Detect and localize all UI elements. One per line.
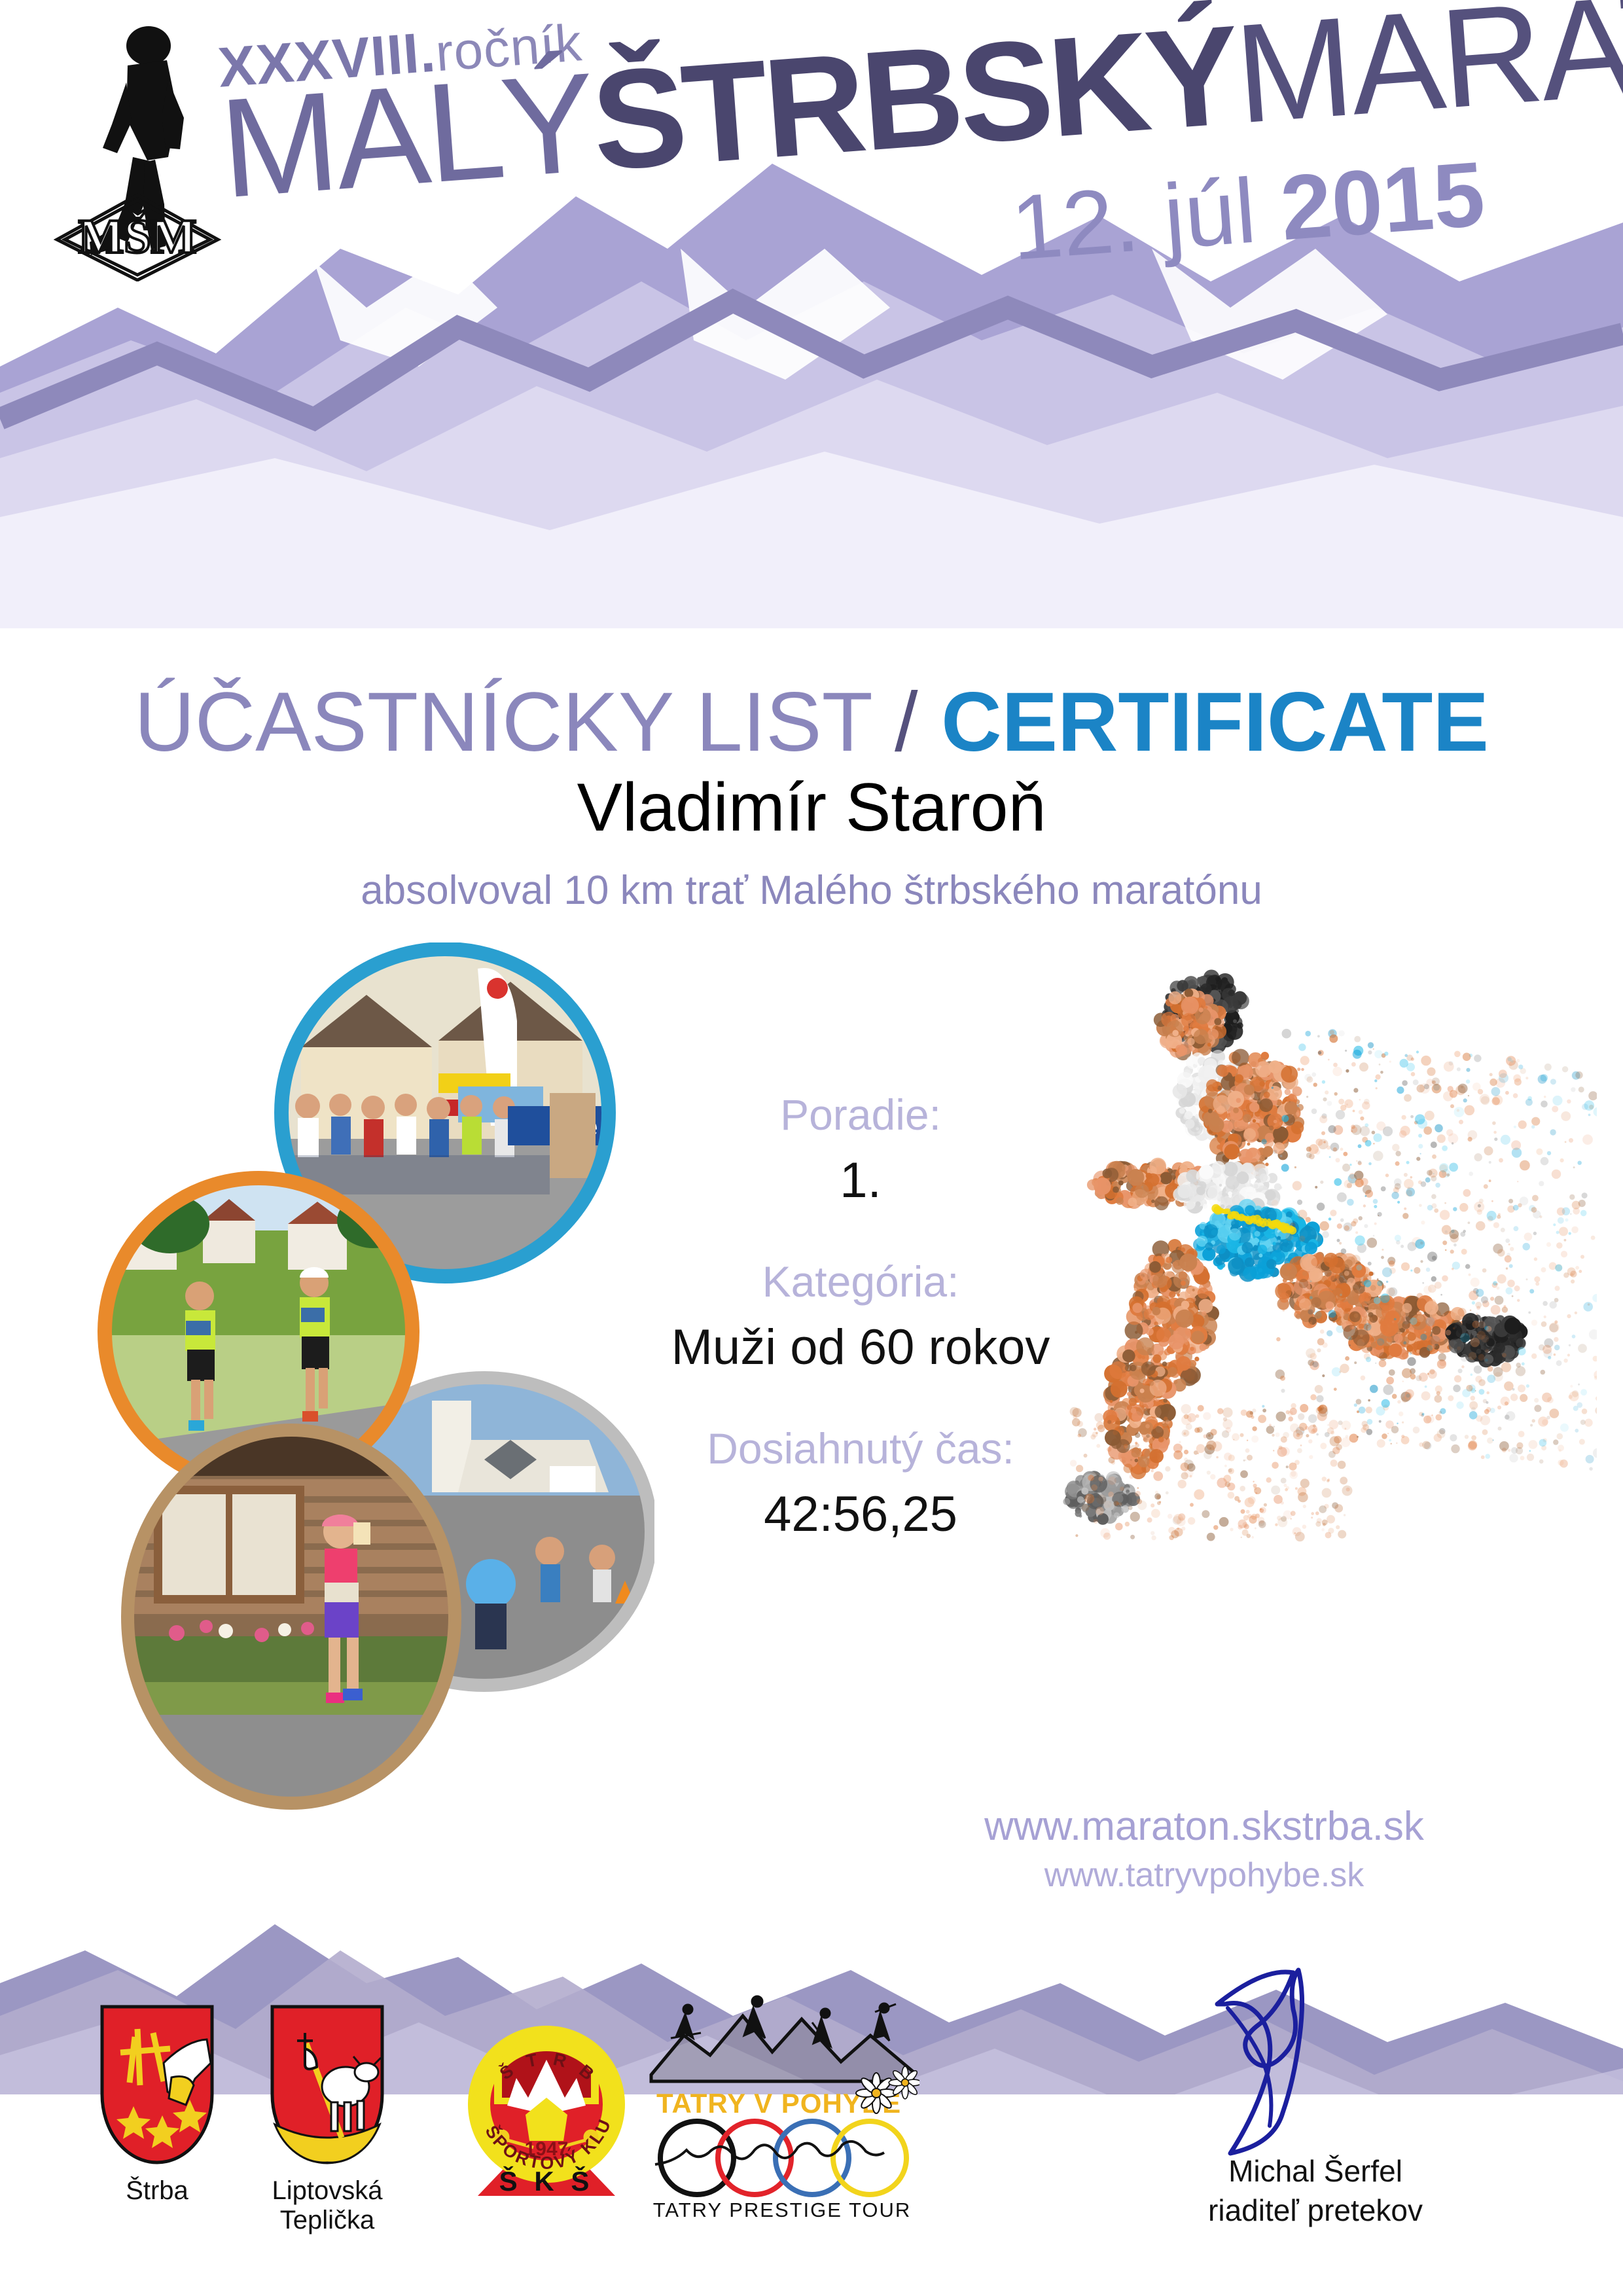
crest-strba-svg — [98, 2003, 216, 2166]
club-logo-sks: 1947 Š T R B A ŠPORTOVÝ KLUB Š K Š — [455, 2000, 638, 2215]
photo-collage-svg: Cie — [92, 942, 654, 1813]
title-part-maly: MALÝ — [215, 43, 599, 227]
crest-strba-label: Štrba — [79, 2176, 236, 2206]
dot-runner-artwork — [975, 949, 1597, 1734]
signature-svg — [1165, 1964, 1440, 2179]
photo-collage: Cie — [92, 942, 654, 1813]
crest-strba — [98, 2003, 216, 2166]
crest-liptovska-teplicka — [268, 2003, 386, 2166]
signature-block — [1165, 1964, 1440, 2179]
signature-name: Michal Šerfel — [1086, 2153, 1544, 2189]
tatry-logo-svg: TATRY V POHYBE — [645, 1990, 919, 2121]
crest-liptovska-label: Liptovská Teplička — [236, 2176, 419, 2235]
ring-yellow — [833, 2121, 906, 2195]
dot-runner-svg — [975, 949, 1597, 1734]
crest-liptovska-svg — [268, 2003, 386, 2166]
event-date-day: 12. júl — [1008, 157, 1285, 279]
certificate-title-sk: ÚČASTNÍCKY LIST — [134, 675, 895, 769]
msm-logo-svg: MŠM — [49, 20, 226, 281]
tatry-v-pohybe-logo: TATRY V POHYBE — [645, 1990, 919, 2121]
msm-logo: MŠM — [49, 20, 226, 281]
achievement-text: absolvoval 10 km trať Malého štrbského m… — [0, 867, 1623, 914]
club-logo-svg: 1947 Š T R B A ŠPORTOVÝ KLUB Š K Š — [455, 2000, 638, 2215]
msm-logo-text: MŠM — [79, 210, 197, 264]
certificate-title-en: CERTIFICATE — [941, 675, 1489, 769]
certificate-title-separator: / — [895, 675, 941, 769]
prestige-logo-caption: TATRY PRESTIGE TOUR — [653, 2198, 912, 2221]
club-logo-abbrev: Š K Š — [499, 2165, 594, 2197]
prestige-logo-svg: TATRY PRESTIGE TOUR — [645, 2117, 919, 2229]
tatry-prestige-tour-logo: TATRY PRESTIGE TOUR — [645, 2117, 919, 2229]
website-url-main[interactable]: www.maraton.skstrba.sk — [844, 1803, 1564, 1850]
certificate-title: ÚČASTNÍCKY LIST / CERTIFICATE — [0, 674, 1623, 770]
event-date-year: 2015 — [1277, 142, 1488, 259]
signature-role: riaditeľ pretekov — [1086, 2193, 1544, 2228]
recipient-name: Vladimír Staroň — [0, 769, 1623, 847]
